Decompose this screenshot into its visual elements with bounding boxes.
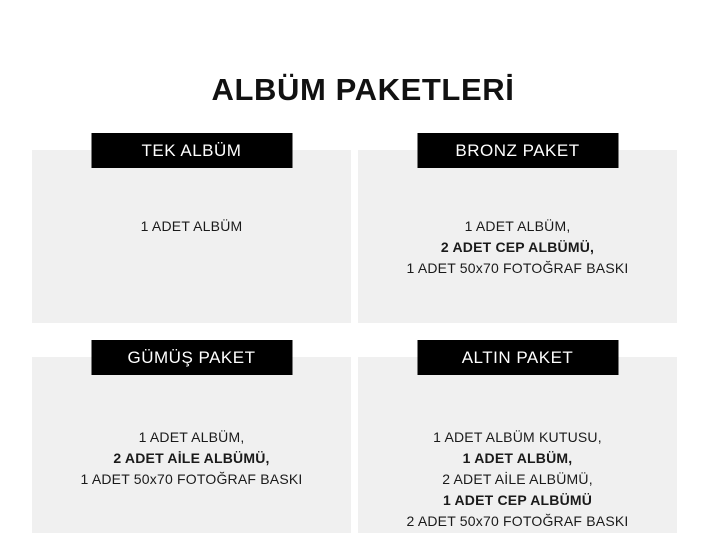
package-line: 1 ADET 50x70 FOTOĞRAF BASKI xyxy=(32,469,351,490)
package-card-lines: 1 ADET ALBÜM KUTUSU, 1 ADET ALBÜM, 2 ADE… xyxy=(358,427,677,532)
package-card-lines: 1 ADET ALBÜM, 2 ADET CEP ALBÜMÜ, 1 ADET … xyxy=(358,216,677,279)
package-line: 1 ADET 50x70 FOTOĞRAF BASKI xyxy=(358,258,677,279)
package-card-header: ALTIN PAKET xyxy=(417,340,618,375)
package-line: 1 ADET ALBÜM xyxy=(32,216,351,237)
package-card-altin-paket[interactable]: 1 ADET ALBÜM KUTUSU, 1 ADET ALBÜM, 2 ADE… xyxy=(358,340,677,540)
package-line: 1 ADET CEP ALBÜMÜ xyxy=(358,490,677,511)
package-line: 2 ADET AİLE ALBÜMÜ, xyxy=(358,469,677,490)
package-line: 1 ADET ALBÜM, xyxy=(32,427,351,448)
package-line: 2 ADET AİLE ALBÜMÜ, xyxy=(32,448,351,469)
package-line: 2 ADET 50x70 FOTOĞRAF BASKI xyxy=(358,511,677,532)
package-card-body: 1 ADET ALBÜM, 2 ADET CEP ALBÜMÜ, 1 ADET … xyxy=(358,150,677,323)
package-card-body: 1 ADET ALBÜM xyxy=(32,150,351,323)
package-card-lines: 1 ADET ALBÜM, 2 ADET AİLE ALBÜMÜ, 1 ADET… xyxy=(32,427,351,490)
package-card-body: 1 ADET ALBÜM KUTUSU, 1 ADET ALBÜM, 2 ADE… xyxy=(358,357,677,533)
package-card-lines: 1 ADET ALBÜM xyxy=(32,216,351,237)
package-card-gumus-paket[interactable]: 1 ADET ALBÜM, 2 ADET AİLE ALBÜMÜ, 1 ADET… xyxy=(32,340,351,540)
package-card-tek-album[interactable]: 1 ADET ALBÜM TEK ALBÜM xyxy=(32,133,351,323)
album-packages-grid: 1 ADET ALBÜM TEK ALBÜM 1 ADET ALBÜM, 2 A… xyxy=(32,133,678,533)
package-line: 1 ADET ALBÜM, xyxy=(358,216,677,237)
package-card-header: BRONZ PAKET xyxy=(417,133,618,168)
package-card-bronz-paket[interactable]: 1 ADET ALBÜM, 2 ADET CEP ALBÜMÜ, 1 ADET … xyxy=(358,133,677,323)
package-line: 1 ADET ALBÜM, xyxy=(358,448,677,469)
page-title: ALBÜM PAKETLERİ xyxy=(0,71,726,109)
package-card-header: TEK ALBÜM xyxy=(91,133,292,168)
package-line: 1 ADET ALBÜM KUTUSU, xyxy=(358,427,677,448)
package-card-header: GÜMÜŞ PAKET xyxy=(91,340,292,375)
package-card-body: 1 ADET ALBÜM, 2 ADET AİLE ALBÜMÜ, 1 ADET… xyxy=(32,357,351,533)
package-line: 2 ADET CEP ALBÜMÜ, xyxy=(358,237,677,258)
